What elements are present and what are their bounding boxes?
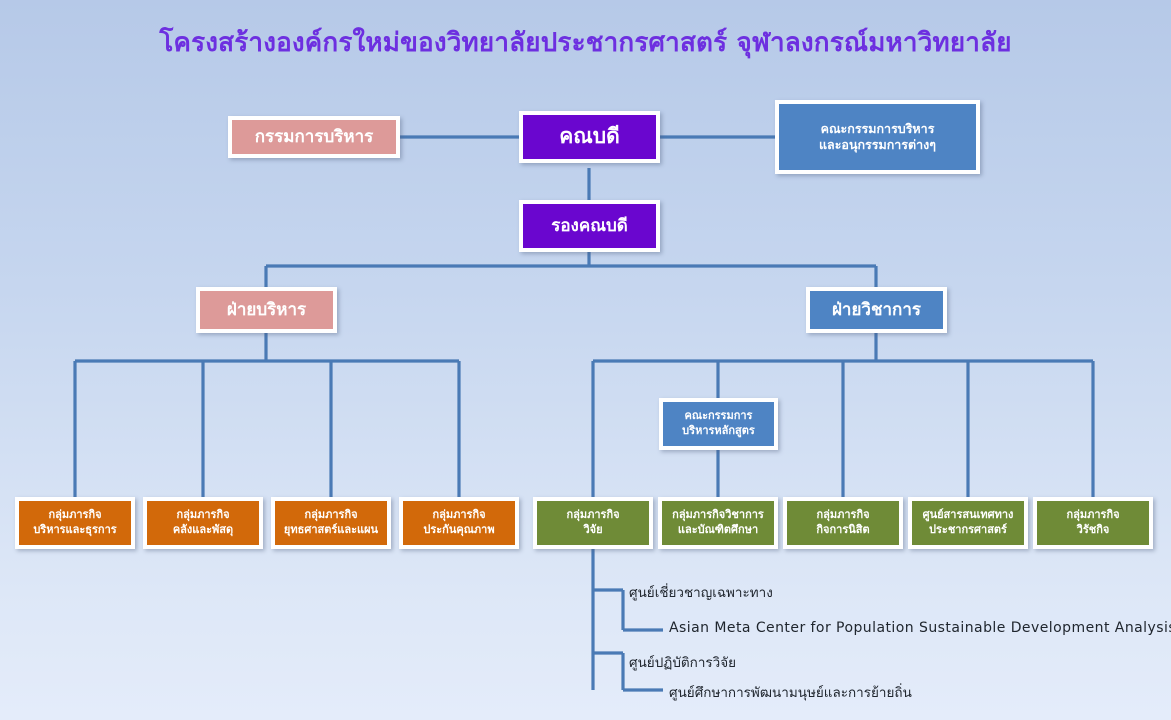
node-academic-unit-4[interactable]: ศูนย์สารสนเทศทาง ประชากรศาสตร์ [908, 497, 1028, 549]
node-admin-committee[interactable]: คณะกรรมการบริหาร และอนุกรรมการต่างๆ [775, 100, 980, 174]
research-center-group-1-child-label: Asian Meta Center for Population Sustain… [669, 620, 1171, 636]
node-admin-unit-2-line-1: กลุ่มภารกิจ [176, 508, 229, 523]
node-dean-line-1: คณบดี [559, 123, 620, 151]
node-admin-unit-3[interactable]: กลุ่มภารกิจ ยุทธศาสตร์และแผน [271, 497, 391, 549]
node-academic-unit-1-line-1: กลุ่มภารกิจ [566, 508, 619, 523]
node-admin-unit-2-line-2: คลังและพัสดุ [173, 523, 233, 538]
research-center-group-2-child-label: ศูนย์ศึกษาการพัฒนามนุษย์และการย้ายถิ่น [669, 681, 912, 703]
node-deputy-dean[interactable]: รองคณบดี [519, 200, 660, 252]
org-chart-canvas: โครงสร้างองค์กรใหม่ของวิทยาลัยประชากรศาส… [0, 0, 1171, 720]
connector-lines [0, 0, 1171, 720]
node-admin-unit-4[interactable]: กลุ่มภารกิจ ประกันคุณภาพ [399, 497, 519, 549]
node-executive-committee-line-1: กรรมการบริหาร [255, 126, 374, 148]
node-academic-unit-1[interactable]: กลุ่มภารกิจ วิจัย [533, 497, 653, 549]
node-curriculum-committee-line-2: บริหารหลักสูตร [682, 424, 755, 439]
research-center-group-2-label: ศูนย์ปฏิบัติการวิจัย [629, 651, 736, 673]
node-academic-unit-4-line-2: ประชากรศาสตร์ [929, 523, 1007, 538]
node-admin-unit-2[interactable]: กลุ่มภารกิจ คลังและพัสดุ [143, 497, 263, 549]
node-admin-unit-1-line-1: กลุ่มภารกิจ [48, 508, 101, 523]
node-academic-unit-3-line-2: กิจการนิสิต [816, 523, 869, 538]
node-admin-unit-4-line-1: กลุ่มภารกิจ [432, 508, 485, 523]
node-admin-unit-1[interactable]: กลุ่มภารกิจ บริหารและธุรการ [15, 497, 135, 549]
node-academic-unit-5-line-2: วิรัชกิจ [1077, 523, 1110, 538]
node-admin-unit-3-line-2: ยุทธศาสตร์และแผน [284, 523, 378, 538]
research-center-group-1-label: ศูนย์เชี่ยวชาญเฉพาะทาง [629, 581, 773, 603]
node-academic-unit-4-line-1: ศูนย์สารสนเทศทาง [923, 508, 1014, 523]
node-academic-division-line-1: ฝ่ายวิชาการ [832, 299, 921, 321]
node-academic-unit-2-line-2: และบัณฑิตศึกษา [678, 523, 758, 538]
node-academic-unit-3[interactable]: กลุ่มภารกิจ กิจการนิสิต [783, 497, 903, 549]
node-academic-unit-3-line-1: กลุ่มภารกิจ [816, 508, 869, 523]
node-academic-unit-2-line-1: กลุ่มภารกิจวิชาการ [672, 508, 764, 523]
node-admin-committee-line-2: และอนุกรรมการต่างๆ [819, 137, 936, 154]
node-admin-unit-3-line-1: กลุ่มภารกิจ [304, 508, 357, 523]
node-deputy-dean-line-1: รองคณบดี [551, 215, 628, 237]
node-dean[interactable]: คณบดี [519, 111, 660, 163]
node-admin-committee-line-1: คณะกรรมการบริหาร [821, 121, 935, 138]
node-academic-unit-5-line-1: กลุ่มภารกิจ [1066, 508, 1119, 523]
node-academic-unit-1-line-2: วิจัย [583, 523, 602, 538]
node-executive-committee[interactable]: กรรมการบริหาร [228, 116, 400, 158]
node-curriculum-committee[interactable]: คณะกรรมการ บริหารหลักสูตร [659, 398, 778, 450]
node-admin-division[interactable]: ฝ่ายบริหาร [196, 287, 337, 333]
node-academic-division[interactable]: ฝ่ายวิชาการ [806, 287, 947, 333]
node-curriculum-committee-line-1: คณะกรรมการ [685, 409, 753, 424]
node-academic-unit-2[interactable]: กลุ่มภารกิจวิชาการ และบัณฑิตศึกษา [658, 497, 778, 549]
node-admin-unit-4-line-2: ประกันคุณภาพ [423, 523, 494, 538]
node-admin-division-line-1: ฝ่ายบริหาร [227, 299, 306, 321]
page-title: โครงสร้างองค์กรใหม่ของวิทยาลัยประชากรศาส… [0, 22, 1171, 63]
node-academic-unit-5[interactable]: กลุ่มภารกิจ วิรัชกิจ [1033, 497, 1153, 549]
node-admin-unit-1-line-2: บริหารและธุรการ [33, 523, 116, 538]
